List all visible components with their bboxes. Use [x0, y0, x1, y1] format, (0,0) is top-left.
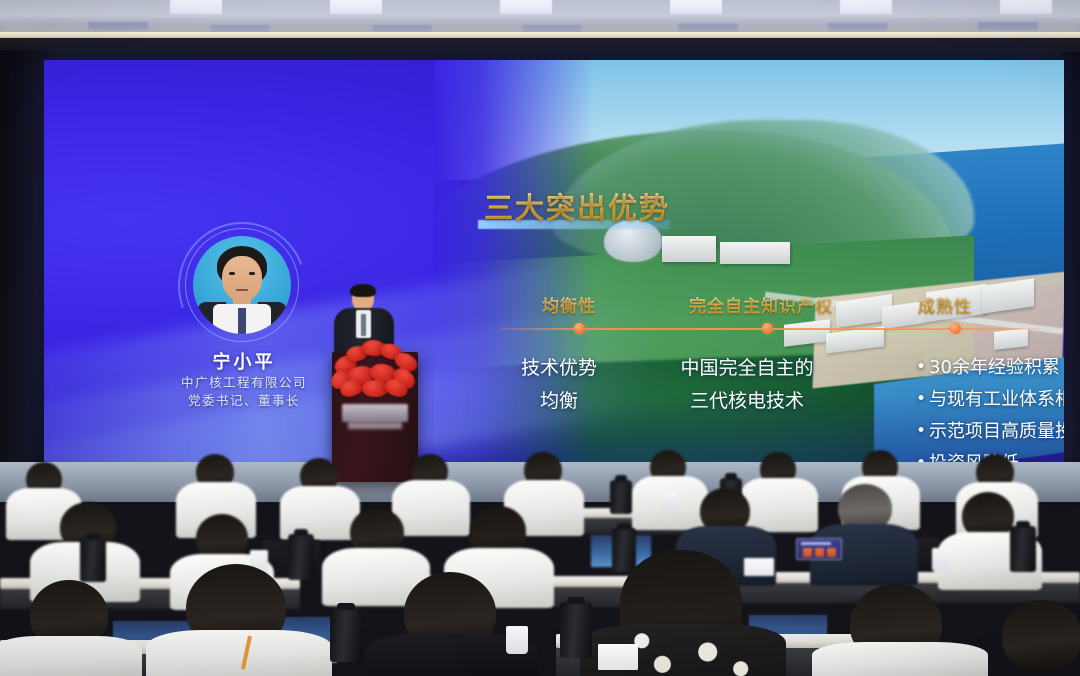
speaker-portrait: [193, 236, 291, 334]
column-1-line-2: 均衡: [484, 385, 634, 418]
list-item: 30余年经验积累: [916, 352, 1064, 384]
desk-name-placard: [796, 538, 842, 560]
audience-area: [0, 430, 1080, 676]
slide-title: 三大突出优势: [484, 185, 670, 227]
column-1-line-1: 技术优势: [484, 352, 634, 385]
flower-arrangement: [330, 336, 428, 398]
column-header-2: 完全自主知识产权: [689, 292, 833, 317]
timeline-dot-3: [950, 323, 961, 334]
timeline-dot-1: [574, 323, 585, 334]
right-wall: [1062, 52, 1080, 472]
ceiling: [0, 0, 1080, 34]
podium-logo: [342, 404, 408, 422]
left-wall: [0, 50, 48, 480]
column-header-1: 均衡性: [542, 292, 596, 317]
column-2-line-1: 中国完全自主的: [652, 352, 842, 385]
conference-hall-photo: 宁小平 中广核工程有限公司 党委书记、董事长 三大突出优势 均衡性 完全自主知识…: [0, 0, 1080, 676]
list-item: 与现有工业体系相适应: [916, 384, 1064, 416]
column-header-3: 成熟性: [918, 292, 972, 317]
timeline-dot-2: [762, 323, 773, 334]
led-presentation-screen: 宁小平 中广核工程有限公司 党委书记、董事长 三大突出优势 均衡性 完全自主知识…: [44, 60, 1064, 465]
podium-logo-subtext: [348, 422, 402, 429]
column-2-line-2: 三代核电技术: [652, 385, 842, 418]
